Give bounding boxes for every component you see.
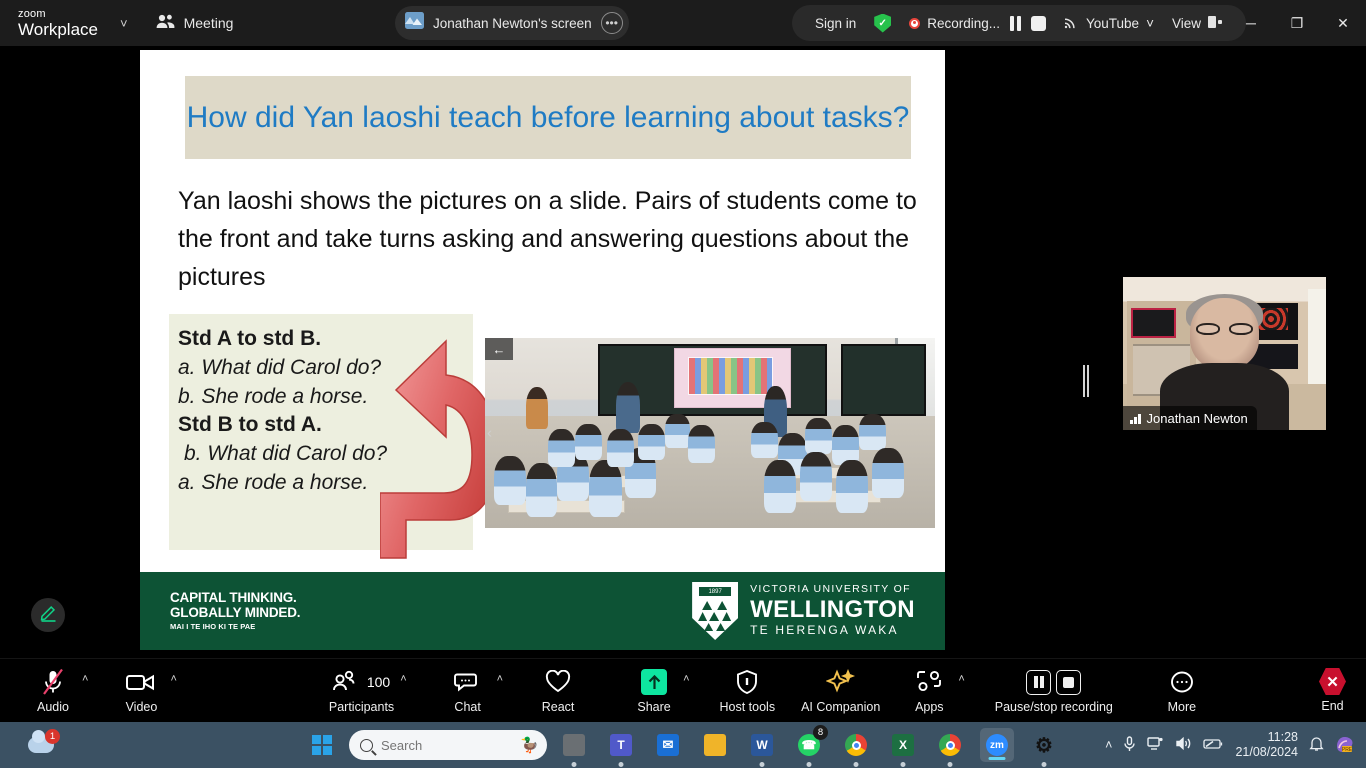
shared-screen-title: Jonathan Newton's screen bbox=[433, 16, 592, 31]
shield-icon bbox=[735, 667, 759, 697]
slide-body-text: Yan laoshi shows the pictures on a slide… bbox=[178, 182, 918, 296]
photo-back-icon: ← bbox=[485, 338, 513, 360]
record-dot-icon bbox=[909, 18, 920, 29]
file-explorer-icon bbox=[704, 734, 726, 756]
encryption-shield-button[interactable]: ✓ bbox=[865, 14, 900, 33]
university-tagline: CAPITAL THINKING. GLOBALLY MINDED. MAI I… bbox=[170, 591, 300, 631]
apps-label: Apps bbox=[915, 700, 944, 714]
clock-date: 21/08/2024 bbox=[1235, 745, 1298, 760]
teams-icon: T bbox=[610, 734, 632, 756]
dialogue-line: Std A to std B. bbox=[178, 325, 473, 354]
react-label: React bbox=[542, 700, 575, 714]
participants-label: Participants bbox=[329, 700, 394, 714]
shared-screen-stage: How did Yan laoshi teach before learning… bbox=[6, 46, 1079, 654]
workspace-chevron-down-icon[interactable]: ˅ bbox=[120, 16, 128, 31]
more-label: More bbox=[1168, 700, 1196, 714]
taskbar-center-cluster: 🦆 T ✉ W ☎ 8 bbox=[302, 728, 1064, 762]
view-button[interactable]: View bbox=[1163, 15, 1232, 32]
apps-icon bbox=[916, 667, 943, 697]
participant-name: Jonathan Newton bbox=[1147, 411, 1248, 426]
taskbar-app-chrome-1[interactable] bbox=[839, 728, 873, 762]
weather-badge: 1 bbox=[45, 729, 60, 744]
taskbar-app-mail[interactable]: ✉ bbox=[651, 728, 685, 762]
screen-share-thumbnail-icon bbox=[405, 12, 424, 34]
zoom-icon: zm bbox=[986, 734, 1008, 756]
mail-icon: ✉ bbox=[657, 734, 679, 756]
toolbar-ai-companion-button[interactable]: AI Companion bbox=[801, 659, 880, 723]
chrome-icon bbox=[845, 734, 867, 756]
slide-title-text: How did Yan laoshi teach before learning… bbox=[187, 98, 910, 138]
toolbar-participants-button[interactable]: 100 Participants bbox=[329, 659, 394, 723]
toolbar-video-button[interactable]: Video bbox=[118, 659, 164, 723]
volume-icon[interactable] bbox=[1175, 736, 1192, 754]
people-icon bbox=[156, 14, 175, 32]
sign-in-button[interactable]: Sign in bbox=[806, 16, 865, 31]
dialogue-line: b. She rode a horse. bbox=[178, 383, 473, 412]
zoom-brand-small: zoom bbox=[18, 9, 98, 20]
stop-recording-icon[interactable] bbox=[1056, 670, 1081, 695]
minimize-button[interactable]: ─ bbox=[1228, 0, 1274, 46]
toolbar-share-button[interactable]: Share bbox=[631, 659, 677, 723]
toolbar-host-tools-button[interactable]: Host tools bbox=[720, 659, 776, 723]
pencil-icon bbox=[39, 603, 58, 627]
network-icon[interactable] bbox=[1147, 736, 1164, 754]
windows-logo-icon bbox=[312, 735, 332, 755]
apps-options-caret-icon[interactable]: ˄ bbox=[952, 673, 970, 685]
tagline-line-1: CAPITAL THINKING. bbox=[170, 591, 300, 605]
task-view-icon bbox=[563, 734, 585, 756]
university-line-1: VICTORIA UNIVERSITY OF bbox=[750, 584, 915, 596]
view-label: View bbox=[1172, 16, 1201, 31]
chrome-icon bbox=[939, 734, 961, 756]
titlebar-right-cluster: Sign in ✓ Recording... YouTu bbox=[792, 5, 1246, 41]
chat-bubble-icon bbox=[454, 667, 482, 697]
battery-icon[interactable] bbox=[1203, 737, 1224, 753]
taskbar-app-task-view[interactable] bbox=[557, 728, 591, 762]
word-icon: W bbox=[751, 734, 773, 756]
system-tray: ˄ bbox=[1105, 730, 1354, 761]
crest-year: 1897 bbox=[698, 586, 732, 597]
excel-icon: X bbox=[892, 734, 914, 756]
video-panel-drag-handle[interactable] bbox=[1083, 365, 1089, 397]
meeting-label: Meeting bbox=[184, 15, 234, 31]
toolbar-audio-button[interactable]: Audio bbox=[30, 659, 76, 723]
taskbar-search[interactable]: 🦆 bbox=[349, 730, 547, 760]
microphone-icon[interactable] bbox=[1123, 736, 1136, 755]
cloud-icon: 1 bbox=[28, 737, 54, 753]
dialogue-example-box: Std A to std B. a. What did Carol do? b.… bbox=[169, 314, 473, 550]
classroom-photo: ← ‹ bbox=[485, 338, 935, 528]
microphone-muted-icon bbox=[40, 667, 66, 697]
recording-label: Pause/stop recording bbox=[995, 700, 1113, 714]
chat-options-caret-icon[interactable]: ˄ bbox=[491, 673, 509, 685]
screen-share-indicator[interactable]: Jonathan Newton's screen ••• bbox=[395, 6, 629, 40]
stop-recording-icon[interactable] bbox=[1031, 16, 1046, 31]
dialogue-line: a. She rode a horse. bbox=[178, 469, 473, 498]
youtube-livestream-button[interactable]: YouTube ˅ bbox=[1055, 15, 1163, 32]
tagline-line-2: GLOBALLY MINDED. bbox=[170, 606, 300, 620]
participant-count: 100 bbox=[367, 674, 390, 690]
taskbar-app-zoom[interactable]: zm bbox=[980, 728, 1014, 762]
recording-label: Recording... bbox=[927, 16, 1000, 31]
bell-icon[interactable] bbox=[1309, 736, 1324, 755]
chat-label: Chat bbox=[454, 700, 480, 714]
taskbar-app-settings[interactable]: ⚙ bbox=[1027, 728, 1061, 762]
window-controls: ─ ❐ ✕ bbox=[1228, 0, 1366, 46]
end-label: End bbox=[1321, 699, 1343, 713]
toolbar-react-button[interactable]: React bbox=[535, 659, 581, 723]
taskbar-app-excel[interactable]: X bbox=[886, 728, 920, 762]
taskbar-clock[interactable]: 11:28 21/08/2024 bbox=[1235, 730, 1298, 761]
participant-video-tile[interactable]: Jonathan Newton bbox=[1123, 277, 1326, 430]
dialogue-line: Std B to std A. bbox=[178, 411, 473, 440]
dialogue-line: b. What did Carol do? bbox=[178, 440, 473, 469]
ai-companion-label: AI Companion bbox=[801, 700, 880, 714]
taskbar-app-explorer[interactable] bbox=[698, 728, 732, 762]
end-meeting-button[interactable]: ✕ End bbox=[1319, 668, 1346, 713]
sparkle-icon bbox=[826, 667, 856, 697]
share-more-options-icon[interactable]: ••• bbox=[601, 12, 623, 34]
powerpoint-slide: How did Yan laoshi teach before learning… bbox=[140, 50, 945, 650]
toolbar-apps-button[interactable]: Apps bbox=[906, 659, 952, 723]
heart-icon bbox=[545, 667, 571, 697]
host-tools-label: Host tools bbox=[720, 700, 776, 714]
audio-label: Audio bbox=[37, 700, 69, 714]
university-line-2: WELLINGTON bbox=[750, 597, 915, 623]
taskbar-app-chrome-2[interactable] bbox=[933, 728, 967, 762]
search-mascot-icon: 🦆 bbox=[520, 736, 539, 754]
zoom-title-bar: zoom Workplace ˅ Meeting Jo bbox=[0, 0, 1366, 46]
zoom-brand-big: Workplace bbox=[18, 21, 98, 38]
ellipsis-icon bbox=[1168, 667, 1196, 697]
camera-icon bbox=[125, 667, 157, 697]
taskbar-app-teams[interactable]: T bbox=[604, 728, 638, 762]
people-icon: 100 bbox=[333, 667, 390, 697]
gear-icon: ⚙ bbox=[1033, 734, 1055, 756]
university-line-3: TE HERENGA WAKA bbox=[750, 624, 915, 637]
photo-prev-icon: ‹ bbox=[487, 425, 492, 442]
participants-options-caret-icon[interactable]: ˄ bbox=[394, 673, 412, 685]
end-call-icon: ✕ bbox=[1319, 668, 1346, 695]
tray-expand-chevron-icon[interactable]: ˄ bbox=[1105, 738, 1112, 752]
participant-name-badge: Jonathan Newton bbox=[1123, 406, 1257, 430]
crest-icon: 1897 bbox=[692, 582, 738, 640]
university-logo: 1897 VICTORIA UNIVERSITY OF WELLINGTON T… bbox=[692, 582, 915, 640]
zoom-meeting-toolbar: Audio ˄ Video ˄ 100 Participant bbox=[0, 658, 1366, 722]
slide-title-band: How did Yan laoshi teach before learning… bbox=[185, 76, 911, 159]
share-label: Share bbox=[637, 700, 670, 714]
broadcast-icon bbox=[1064, 15, 1079, 32]
share-options-caret-icon[interactable]: ˄ bbox=[677, 673, 695, 685]
clock-time: 11:28 bbox=[1235, 730, 1298, 745]
view-layout-icon bbox=[1208, 15, 1223, 32]
annotate-button[interactable] bbox=[31, 598, 65, 632]
taskbar-app-whatsapp[interactable]: ☎ 8 bbox=[792, 728, 826, 762]
pause-recording-icon[interactable] bbox=[1026, 670, 1051, 695]
svg-text:PRE: PRE bbox=[1342, 747, 1353, 753]
dialogue-line: a. What did Carol do? bbox=[178, 354, 473, 383]
share-arrow-up-icon bbox=[641, 667, 667, 697]
taskbar-weather-widget[interactable]: 1 bbox=[28, 737, 54, 753]
search-icon bbox=[360, 739, 373, 752]
tagline-maori: MAI I TE IHO KI TE PAE bbox=[170, 623, 300, 631]
pause-recording-icon[interactable] bbox=[1007, 15, 1024, 32]
sign-in-label: Sign in bbox=[815, 16, 856, 31]
zoom-logo: zoom Workplace bbox=[18, 9, 98, 38]
shield-check-icon: ✓ bbox=[874, 14, 891, 33]
slide-footer-band: CAPITAL THINKING. GLOBALLY MINDED. MAI I… bbox=[140, 572, 945, 650]
video-label: Video bbox=[126, 700, 158, 714]
whatsapp-badge: 8 bbox=[813, 725, 828, 740]
taskbar-app-word[interactable]: W bbox=[745, 728, 779, 762]
audio-options-caret-icon[interactable]: ˄ bbox=[76, 673, 94, 685]
search-input[interactable] bbox=[381, 738, 491, 753]
recording-status[interactable]: Recording... bbox=[900, 15, 1055, 32]
start-button[interactable] bbox=[305, 728, 339, 762]
toolbar-more-button[interactable]: More bbox=[1159, 659, 1205, 723]
signal-bars-icon bbox=[1130, 413, 1141, 424]
maximize-button[interactable]: ❐ bbox=[1274, 0, 1320, 46]
youtube-chevron-down-icon[interactable]: ˅ bbox=[1146, 16, 1154, 31]
windows-taskbar: 1 🦆 T ✉ bbox=[0, 722, 1366, 768]
toolbar-chat-button[interactable]: Chat bbox=[445, 659, 491, 723]
toolbar-recording-button[interactable]: Pause/stop recording bbox=[995, 659, 1113, 723]
youtube-label: YouTube bbox=[1086, 16, 1139, 31]
copilot-icon[interactable]: PRE bbox=[1335, 734, 1354, 756]
video-options-caret-icon[interactable]: ˄ bbox=[164, 673, 182, 685]
meeting-tab[interactable]: Meeting bbox=[156, 14, 234, 32]
close-button[interactable]: ✕ bbox=[1320, 0, 1366, 46]
